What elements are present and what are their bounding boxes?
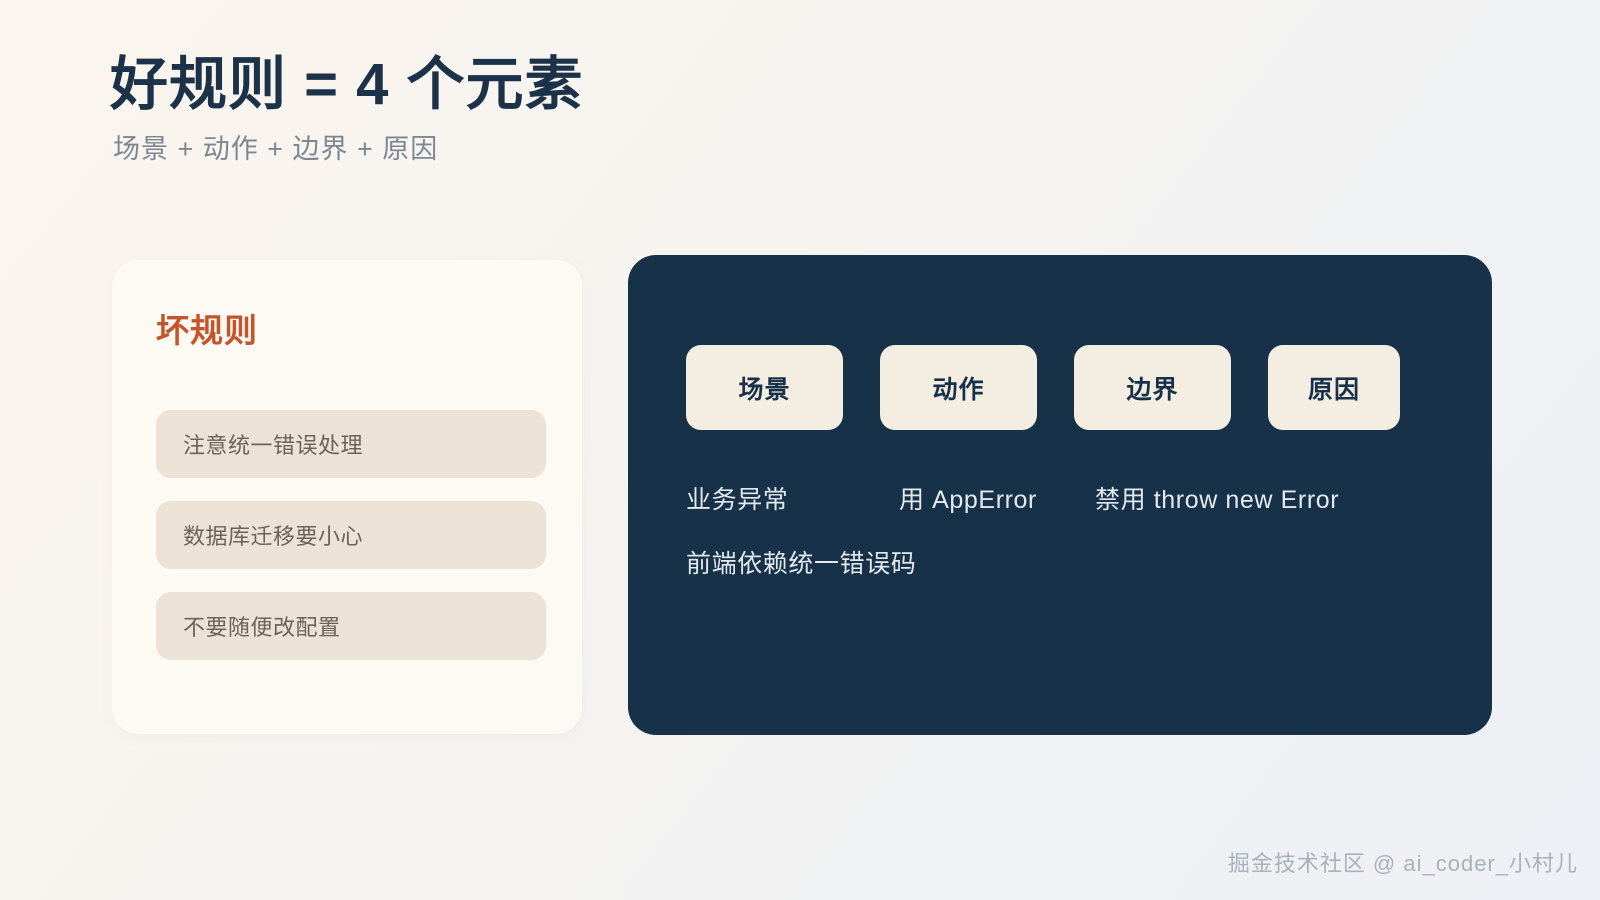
detail-row: 前端依赖统一错误码 (686, 544, 1436, 580)
chip-label: 动作 (932, 370, 984, 406)
chip-boundary: 边界 (1074, 345, 1231, 430)
good-rule-panel: 场景 动作 边界 原因 业务异常 用 AppError 禁用 throw new… (628, 255, 1492, 735)
page-subtitle: 场景 + 动作 + 边界 + 原因 (113, 133, 1010, 165)
detail-reason: 前端依赖统一错误码 (686, 544, 899, 580)
list-item: 不要随便改配置 (156, 592, 546, 660)
chip-scenario: 场景 (686, 345, 843, 430)
bad-rules-heading: 坏规则 (156, 304, 546, 352)
detail-action: 用 AppError (899, 480, 1095, 516)
chip-action: 动作 (880, 345, 1037, 430)
element-chip-row: 场景 动作 边界 原因 (686, 345, 1436, 430)
bad-rule-text: 不要随便改配置 (183, 610, 341, 642)
chip-label: 边界 (1126, 370, 1178, 406)
chip-label: 原因 (1308, 370, 1360, 406)
page-title: 好规则 = 4 个元素 (110, 52, 1010, 119)
bad-rule-text: 数据库迁移要小心 (183, 519, 363, 551)
watermark: 掘金技术社区 @ ai_coder_小村儿 (1228, 846, 1578, 878)
detail-boundary: 禁用 throw new Error (1095, 480, 1339, 516)
chip-label: 场景 (738, 370, 790, 406)
slide-root: 好规则 = 4 个元素 场景 + 动作 + 边界 + 原因 坏规则 注意统一错误… (0, 0, 1600, 900)
detail-rows: 业务异常 用 AppError 禁用 throw new Error 前端依赖统… (686, 480, 1436, 580)
bad-rules-card: 坏规则 注意统一错误处理 数据库迁移要小心 不要随便改配置 (112, 260, 582, 734)
bad-rule-text: 注意统一错误处理 (183, 428, 363, 460)
detail-scenario: 业务异常 (686, 480, 899, 516)
header: 好规则 = 4 个元素 场景 + 动作 + 边界 + 原因 (110, 52, 1010, 165)
list-item: 数据库迁移要小心 (156, 501, 546, 569)
detail-row: 业务异常 用 AppError 禁用 throw new Error (686, 480, 1436, 516)
bad-rules-list: 注意统一错误处理 数据库迁移要小心 不要随便改配置 (156, 410, 546, 660)
list-item: 注意统一错误处理 (156, 410, 546, 478)
chip-reason: 原因 (1268, 345, 1400, 430)
